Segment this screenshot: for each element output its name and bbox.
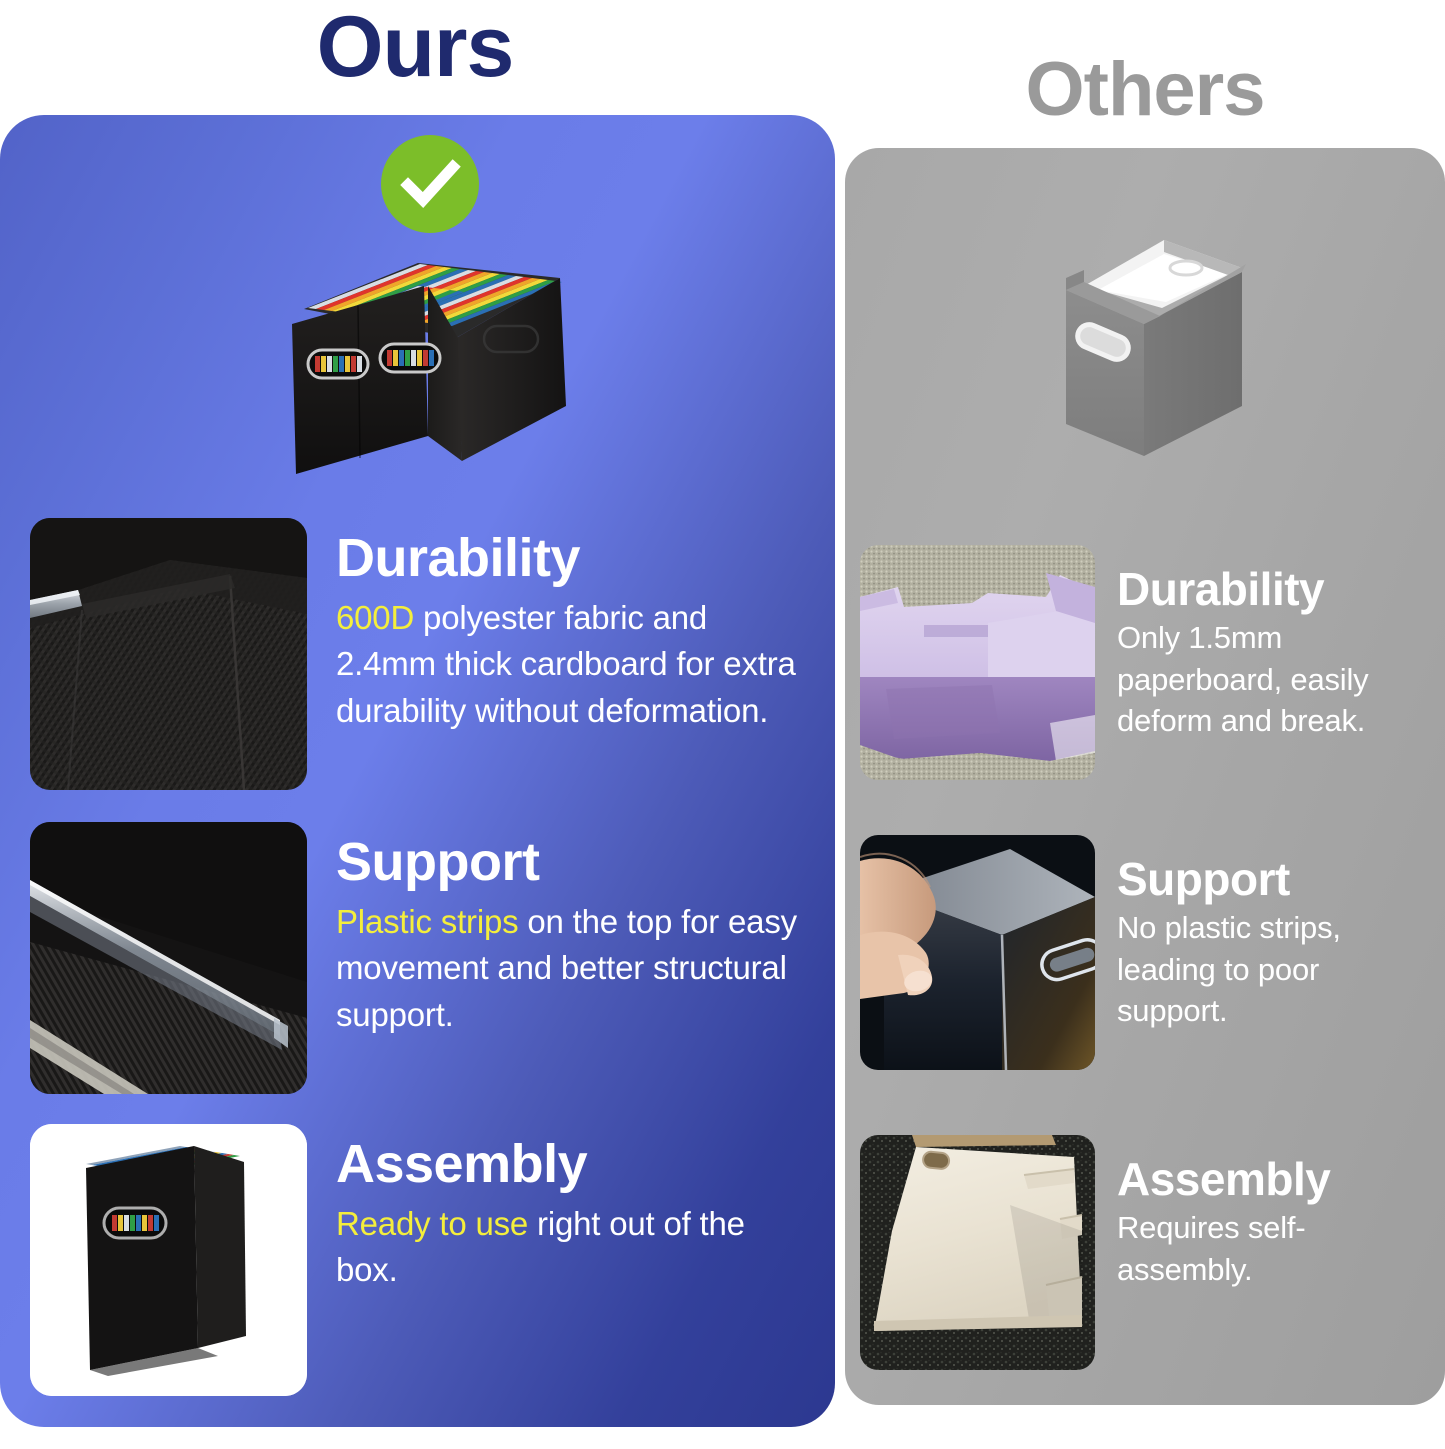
ours-highlight-durability: 600D [336,599,414,636]
others-column-heading: Others [845,52,1445,128]
others-body-assembly: Requires self-assembly. [1117,1207,1437,1289]
ours-text-durability: Durability 600D polyester fabric and 2.4… [336,518,804,734]
others-text-support: Support No plastic strips, leading to po… [1117,835,1437,1031]
ours-body-durability: 600D polyester fabric and 2.4mm thick ca… [336,595,804,734]
others-feature-assembly: Assembly Requires self-assembly. [860,1135,1437,1370]
others-thumb-support [860,835,1095,1070]
ours-text-support: Support Plastic strips on the top for ea… [336,822,804,1038]
others-thumb-durability [860,545,1095,780]
ours-highlight-support: Plastic strips [336,903,518,940]
ours-thumb-support [30,822,307,1094]
others-thumb-assembly [860,1135,1095,1370]
ours-hero-image [268,246,570,484]
others-feature-support: Support No plastic strips, leading to po… [860,835,1437,1070]
ours-title-support: Support [336,834,804,891]
others-body-durability: Only 1.5mm paperboard, easily deform and… [1117,617,1437,741]
ours-feature-support: Support Plastic strips on the top for ea… [30,822,804,1094]
ours-column-heading: Ours [0,4,830,90]
others-body-support: No plastic strips, leading to poor suppo… [1117,907,1437,1031]
ours-body-assembly: Ready to use right out of the box. [336,1201,804,1293]
ours-text-assembly: Assembly Ready to use right out of the b… [336,1124,804,1294]
others-feature-durability: Durability Only 1.5mm paperboard, easily… [860,545,1437,780]
ours-feature-durability: Durability 600D polyester fabric and 2.4… [30,518,804,790]
others-title-assembly: Assembly [1117,1155,1437,1203]
ours-thumb-durability [30,518,307,790]
ours-title-durability: Durability [336,530,804,587]
ours-body-support: Plastic strips on the top for easy movem… [336,899,804,1038]
ours-highlight-assembly: Ready to use [336,1205,528,1242]
others-text-durability: Durability Only 1.5mm paperboard, easily… [1117,545,1437,741]
others-hero-image [1046,228,1264,470]
others-title-durability: Durability [1117,565,1437,613]
others-text-assembly: Assembly Requires self-assembly. [1117,1135,1437,1290]
ours-title-assembly: Assembly [336,1136,804,1193]
others-title-support: Support [1117,855,1437,903]
ours-thumb-assembly [30,1124,307,1396]
ours-feature-assembly: Assembly Ready to use right out of the b… [30,1124,804,1396]
green-check-badge-icon [381,135,479,233]
